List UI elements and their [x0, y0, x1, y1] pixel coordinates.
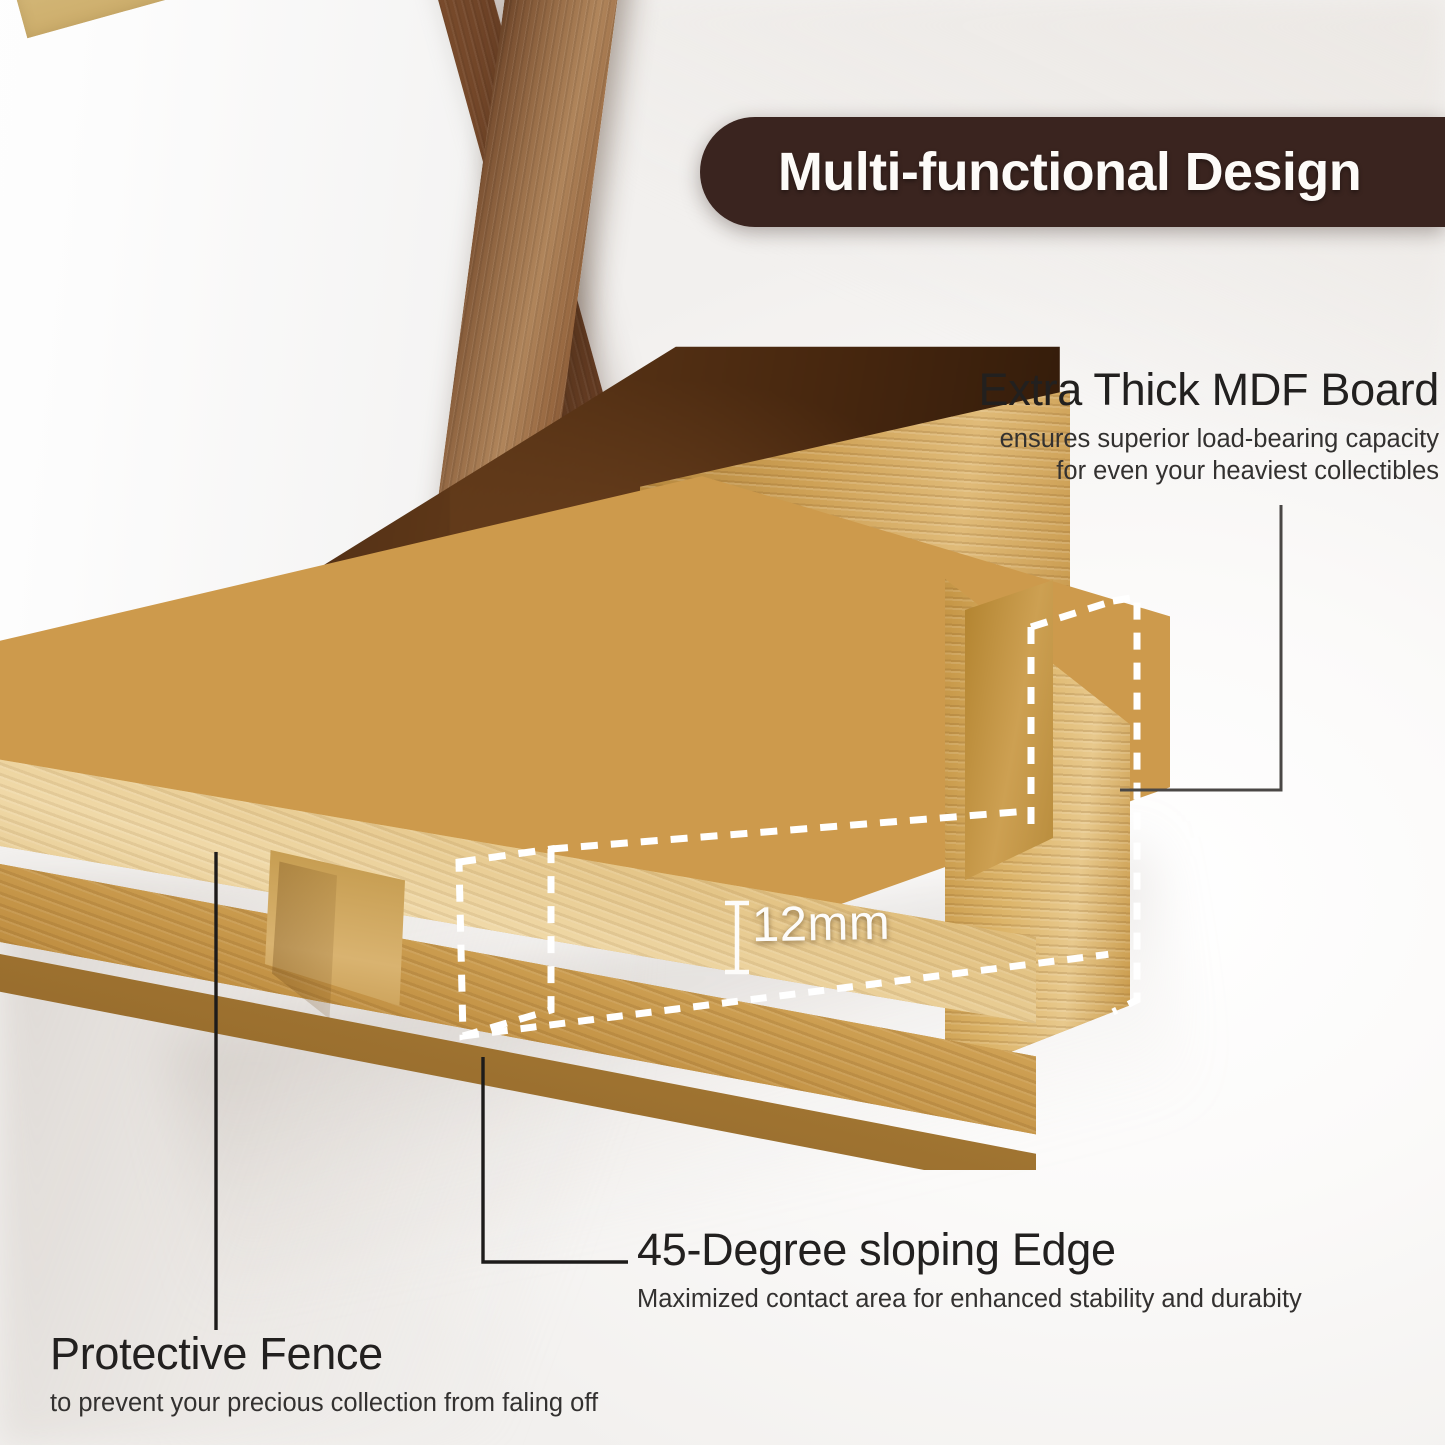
callout-fence-subtitle: to prevent your precious collection from…	[50, 1387, 598, 1420]
product-infographic: Multi-functional Design Extra Thick MDF …	[0, 0, 1445, 1445]
header-banner-title: Multi-functional Design	[778, 141, 1367, 203]
dimension-label-12mm: 12mm	[752, 895, 891, 953]
shelf-right-endcap-inner	[965, 580, 1053, 880]
callout-protective-fence: Protective Fence to prevent your preciou…	[50, 1330, 598, 1419]
callout-slope-title: 45-Degree sloping Edge	[637, 1226, 1302, 1274]
callout-slope-subtitle: Maximized contact area for enhanced stab…	[637, 1283, 1302, 1316]
callout-mdf-subtitle-line1: ensures superior load-bearing capacity	[979, 423, 1440, 456]
callout-mdf-subtitle-line2: for even your heaviest collectibles	[979, 455, 1440, 488]
callout-mdf-subtitle: ensures superior load-bearing capacity f…	[979, 423, 1440, 488]
header-banner: Multi-functional Design	[700, 117, 1445, 227]
callout-mdf-board: Extra Thick MDF Board ensures superior l…	[979, 366, 1440, 488]
callout-sloping-edge: 45-Degree sloping Edge Maximized contact…	[637, 1226, 1302, 1315]
callout-fence-title: Protective Fence	[50, 1330, 598, 1378]
callout-mdf-title: Extra Thick MDF Board	[979, 366, 1440, 414]
